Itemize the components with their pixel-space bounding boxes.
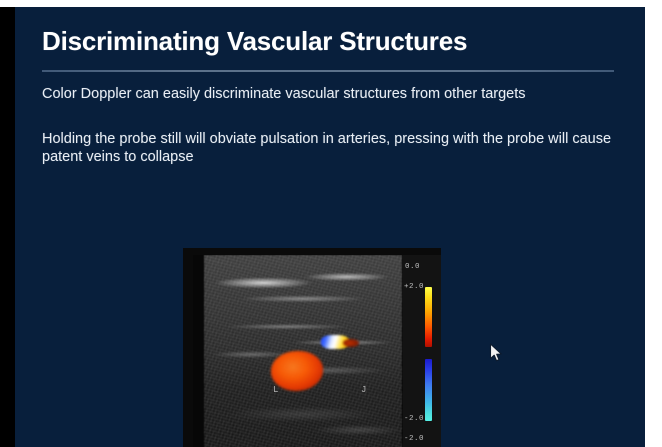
velocity-scale-bar-positive [425, 287, 432, 347]
ultrasound-image: L J 0.0 +2.0 -2.0 -2.0 [183, 248, 441, 447]
caliper-marker-right: J [361, 386, 366, 395]
caliper-marker-left: L [273, 386, 278, 395]
ultrasound-canvas: L J 0.0 +2.0 -2.0 -2.0 [193, 255, 441, 447]
velocity-scale: 0.0 +2.0 -2.0 -2.0 [403, 255, 441, 447]
slide-body: Color Doppler can easily discriminate va… [42, 85, 614, 167]
presentation-slide: Discriminating Vascular Structures Color… [15, 7, 645, 447]
body-paragraph-2: Holding the probe still will obviate pul… [42, 130, 614, 167]
velocity-scale-bar-negative [425, 359, 432, 421]
letterbox-left [0, 0, 15, 447]
velocity-scale-label-bottom: -2.0 [404, 435, 424, 443]
letterbox-right [645, 0, 662, 447]
title-divider [42, 70, 614, 72]
velocity-scale-label-negative: -2.0 [404, 415, 424, 423]
letterbox-top [0, 0, 662, 7]
velocity-scale-label-positive: +2.0 [404, 283, 424, 291]
page-title: Discriminating Vascular Structures [42, 26, 622, 56]
body-paragraph-1: Color Doppler can easily discriminate va… [42, 85, 614, 104]
mouse-cursor-icon [489, 343, 503, 363]
velocity-scale-label-zero: 0.0 [405, 263, 420, 271]
slide-viewer: Discriminating Vascular Structures Color… [0, 0, 662, 447]
doppler-flow-tail [343, 339, 359, 347]
